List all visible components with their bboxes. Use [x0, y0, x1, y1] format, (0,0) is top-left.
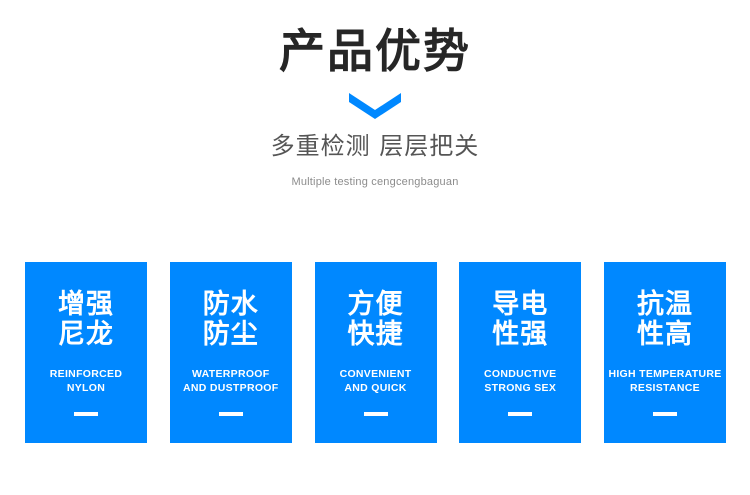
card-dash-icon [74, 412, 98, 416]
advantage-card-title-en: WATERPROOF AND DUSTPROOF [183, 350, 278, 395]
advantage-card[interactable]: 抗温 性高 HIGH TEMPERATURE RESISTANCE [604, 262, 726, 443]
advantage-card-title-cn: 增强 尼龙 [58, 262, 114, 350]
subtitle: 多重检测 层层把关 [0, 121, 750, 162]
advantage-card[interactable]: 导电 性强 CONDUCTIVE STRONG SEX [459, 262, 581, 443]
advantage-card-title-cn: 防水 防尘 [203, 262, 259, 350]
advantage-card-list: 增强 尼龙 REINFORCED NYLON 防水 防尘 WATERPROOF … [25, 262, 726, 443]
card-dash-icon [364, 412, 388, 416]
product-advantages-banner: 产品优势 多重检测 层层把关 Multiple testing cengceng… [0, 0, 750, 495]
banner-header: 产品优势 多重检测 层层把关 Multiple testing cengceng… [0, 0, 750, 190]
advantage-card-title-cn: 导电 性强 [492, 262, 548, 350]
card-dash-icon [653, 412, 677, 416]
page-title: 产品优势 [0, 0, 750, 78]
advantage-card-title-en: CONDUCTIVE STRONG SEX [484, 350, 556, 395]
chevron-divider [0, 91, 750, 121]
advantage-card-title-cn: 抗温 性高 [637, 262, 693, 350]
advantage-card-title-en: REINFORCED NYLON [50, 350, 122, 395]
card-dash-icon [219, 412, 243, 416]
subtitle-english: Multiple testing cengcengbaguan [0, 162, 750, 189]
advantage-card[interactable]: 防水 防尘 WATERPROOF AND DUSTPROOF [170, 262, 292, 443]
chevron-down-icon [349, 93, 401, 119]
advantage-card-title-en: HIGH TEMPERATURE RESISTANCE [608, 350, 721, 395]
advantage-card-title-cn: 方便 快捷 [348, 262, 404, 350]
card-dash-icon [508, 412, 532, 416]
advantage-card-title-en: CONVENIENT AND QUICK [340, 350, 412, 395]
advantage-card[interactable]: 增强 尼龙 REINFORCED NYLON [25, 262, 147, 443]
advantage-card[interactable]: 方便 快捷 CONVENIENT AND QUICK [315, 262, 437, 443]
